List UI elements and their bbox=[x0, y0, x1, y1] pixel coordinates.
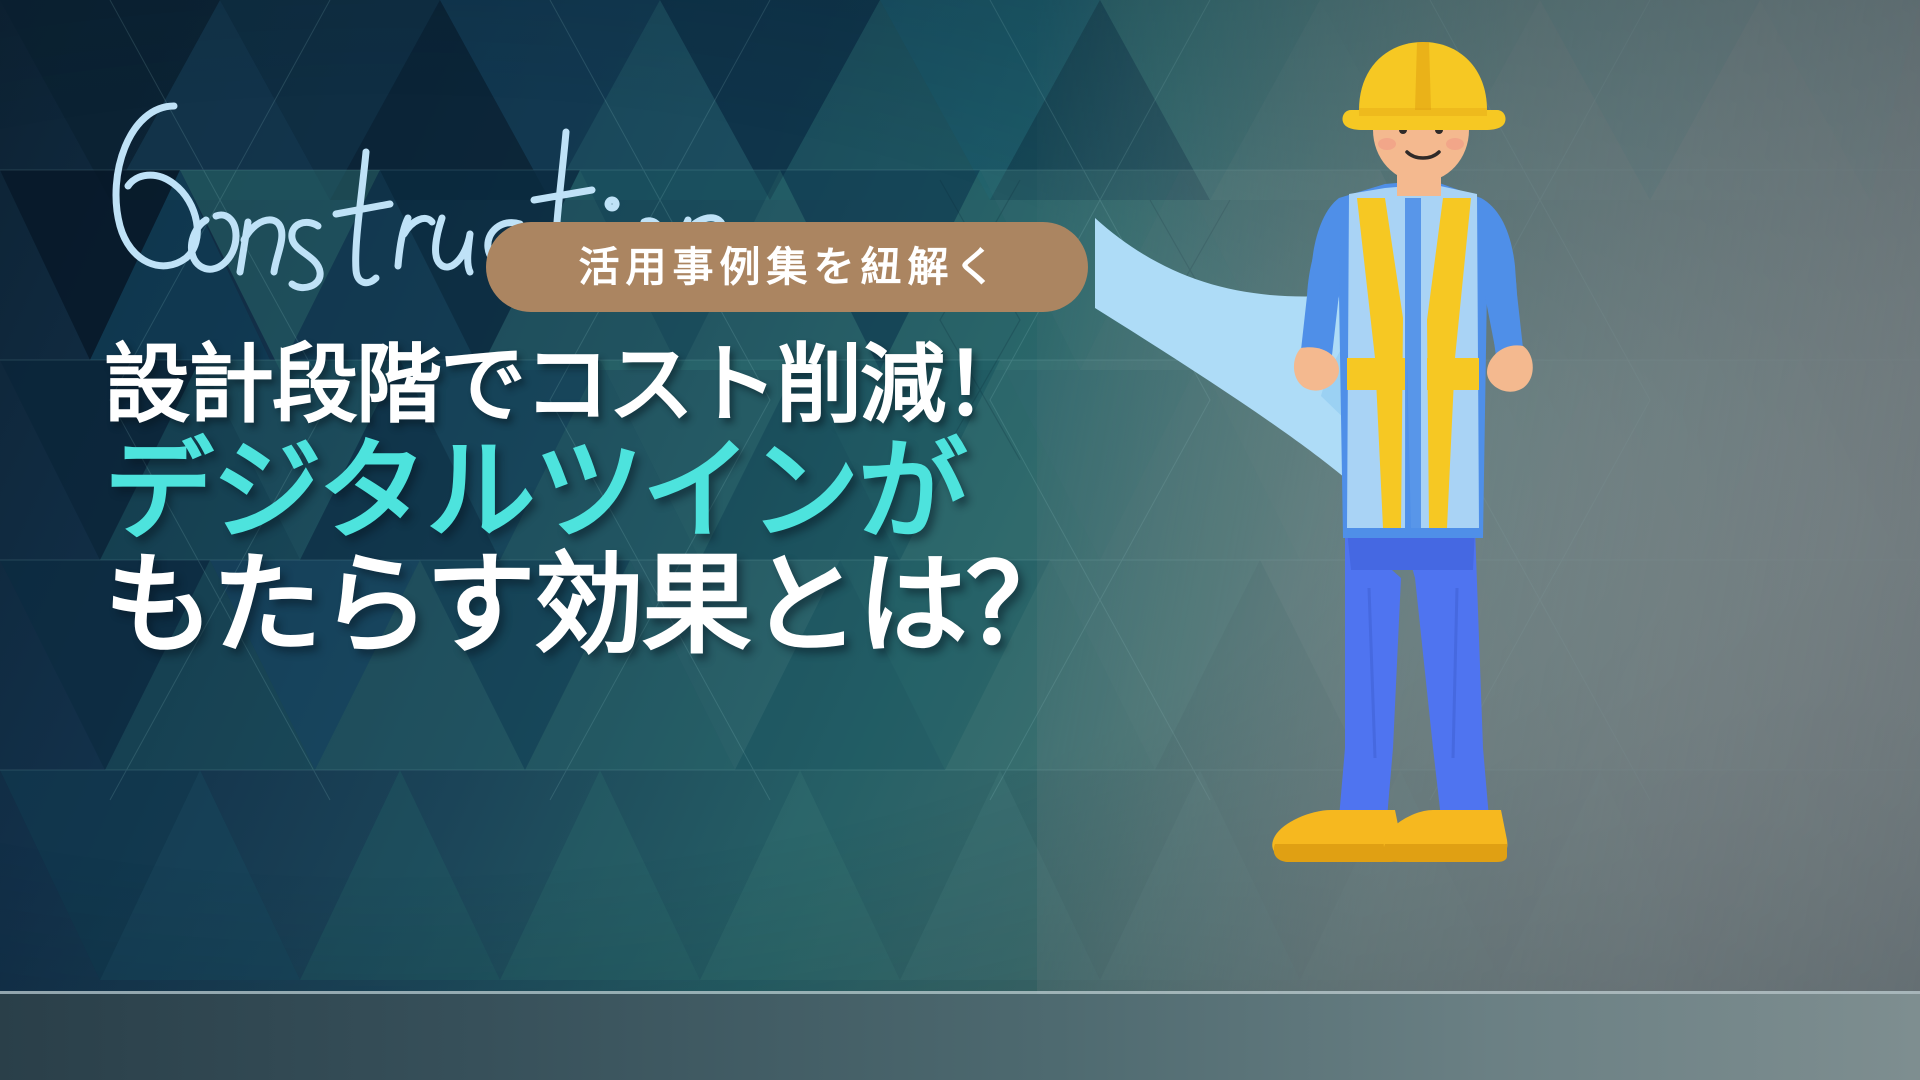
worker-legs bbox=[1339, 528, 1489, 818]
bottom-band bbox=[0, 994, 1920, 1080]
headline-block: 設計段階でコスト削減！ デジタルツインが もたらす効果とは？ bbox=[104, 330, 1284, 662]
category-badge-label: 活用事例集を紐解く bbox=[573, 247, 1002, 288]
headline-line-3: もたらす効果とは？ bbox=[104, 550, 1284, 662]
banner-canvas: 活用事例集を紐解く 設計段階でコスト削減！ デジタルツインが もたらす効果とは？ bbox=[0, 0, 1920, 1080]
headline-line-1: 設計段階でコスト削減！ bbox=[104, 342, 1284, 430]
headline-line-2-highlight: デジタルツインが bbox=[104, 436, 1284, 548]
worker-shoes bbox=[1272, 810, 1507, 862]
category-badge[interactable]: 活用事例集を紐解く bbox=[486, 222, 1088, 312]
construction-worker-illustration bbox=[1235, 58, 1655, 918]
